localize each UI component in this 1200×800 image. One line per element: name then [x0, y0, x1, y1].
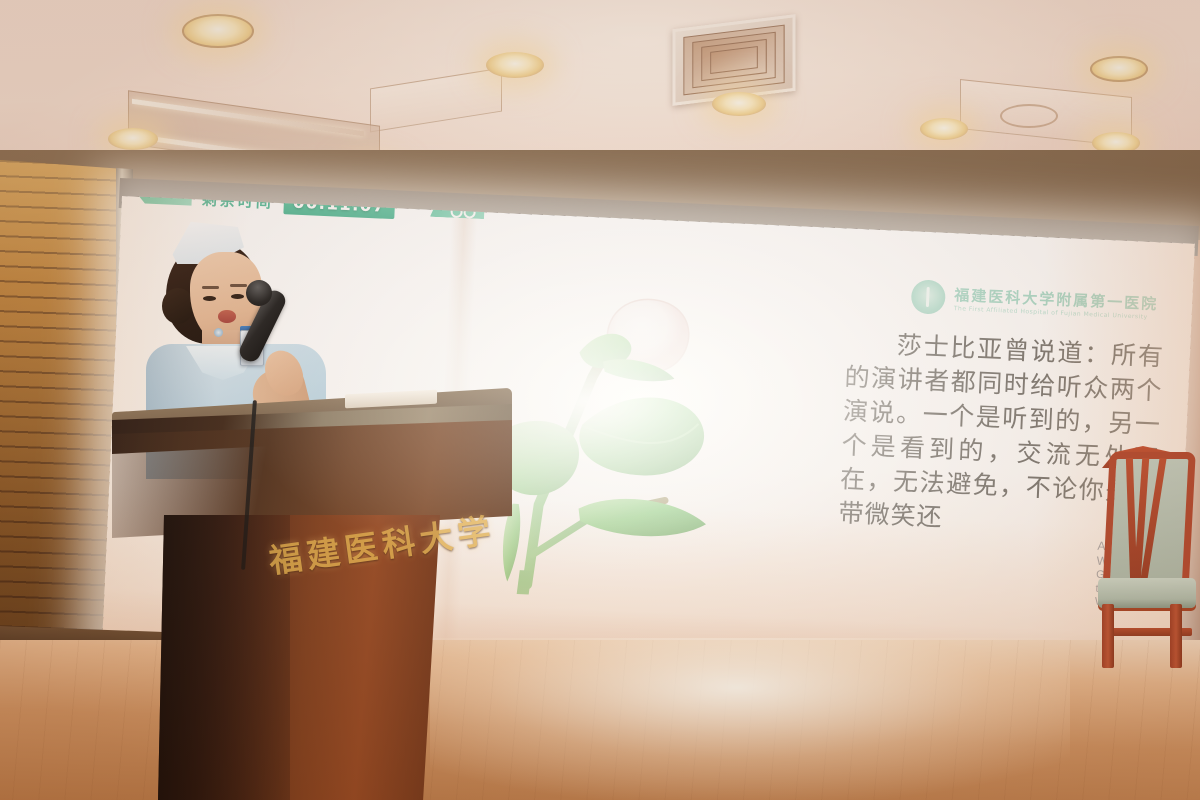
downlight-rim	[1000, 104, 1058, 128]
conference-hall-photo: 剩余时间 00:11:07 福建医科大学附属第一医院 The First Aff…	[0, 0, 1200, 800]
mouth	[218, 310, 236, 323]
chair-leg	[1170, 604, 1182, 668]
floor-light-reflection	[430, 638, 1070, 800]
chair[interactable]	[1098, 452, 1200, 668]
hospital-emblem-icon	[911, 279, 946, 314]
downlight-rim	[1090, 56, 1148, 82]
ceiling-downlight	[920, 118, 968, 140]
chair-leg	[1102, 604, 1114, 668]
hospital-logo: 福建医科大学附属第一医院 The First Affiliated Hospit…	[911, 279, 1159, 324]
ceiling-downlight	[486, 52, 544, 78]
uniform-pin-icon	[214, 328, 223, 337]
ceiling-downlight	[712, 92, 766, 116]
ceiling-downlight	[108, 128, 158, 150]
downlight-rim	[182, 14, 254, 48]
